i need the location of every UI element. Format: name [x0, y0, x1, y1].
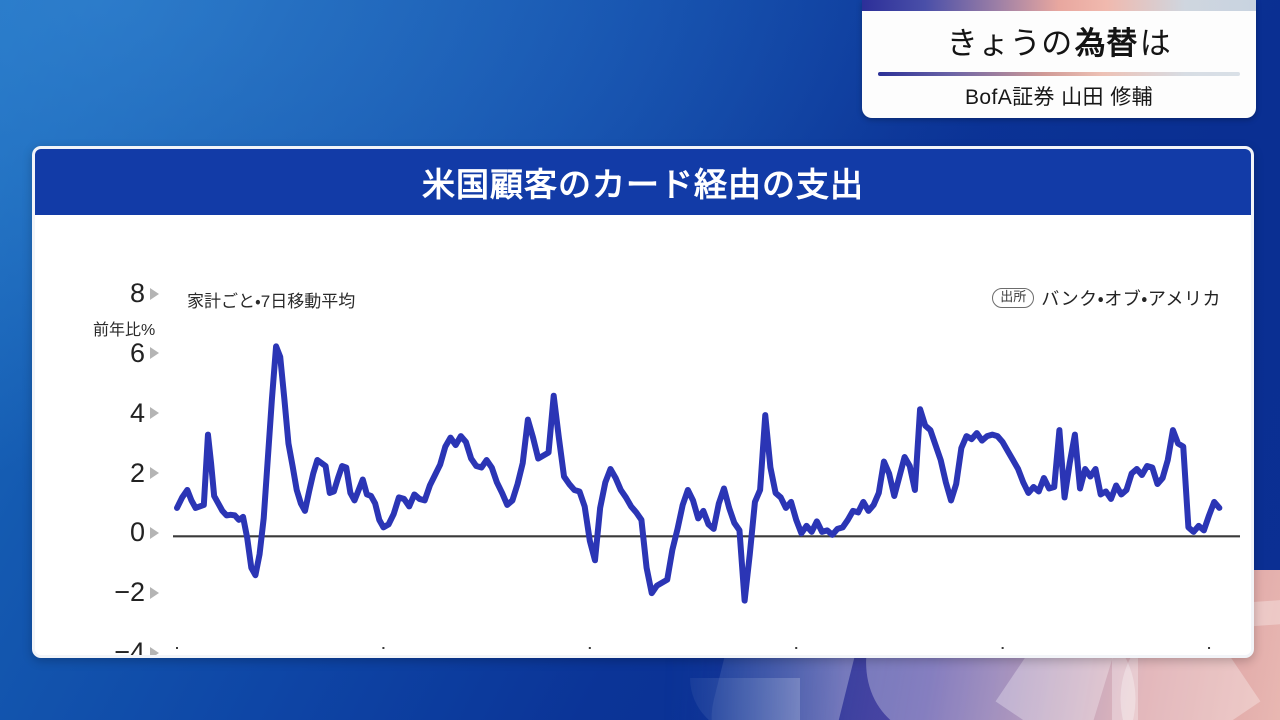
banner-headline-pre: きょうの [947, 18, 1073, 63]
plot-area: 86420−2−4 25/1357911月 [35, 215, 1251, 649]
chart-title-bar: 米国顧客のカード経由の支出 [35, 149, 1251, 215]
tick-triangle-icon [150, 407, 159, 419]
tick-triangle-icon [150, 527, 159, 539]
banner-headline-post: は [1140, 18, 1172, 63]
x-axis-tick-label: 25/1 [152, 653, 203, 658]
chart-title-text: 米国顧客のカード経由の支出 [422, 158, 864, 206]
y-axis-tick-label: 8 [97, 278, 159, 309]
data-line-series [177, 346, 1219, 600]
x-axis-tick-label: 9 [995, 653, 1009, 658]
banner-subtitle: BofA証券 山田 修輔 [862, 80, 1256, 112]
x-axis-tick-label: 3 [376, 653, 390, 658]
chart-card: 米国顧客のカード経由の支出 家計ごと・7日移動平均 前年比% 出所 バンク・オブ… [32, 146, 1254, 658]
y-axis-tick-label: 6 [97, 338, 159, 369]
x-axis-tick-label: 5 [583, 653, 597, 658]
y-axis-tick-label: 4 [97, 398, 159, 429]
y-axis-tick-label: 0 [97, 517, 159, 548]
tick-triangle-icon [150, 587, 159, 599]
x-axis-tick-label: 7 [789, 653, 803, 658]
banner-divider [878, 72, 1240, 76]
y-axis-tick-label: −2 [97, 577, 159, 608]
banner-headline: きょうの為替は [862, 14, 1256, 66]
tick-triangle-icon [150, 467, 159, 479]
y-axis-tick-label: 2 [97, 458, 159, 489]
y-axis-tick-label: −4 [97, 637, 159, 658]
chart-body: 家計ごと・7日移動平均 前年比% 出所 バンク・オブ・アメリカ 86420−2−… [35, 215, 1251, 649]
tick-triangle-icon [150, 347, 159, 359]
x-axis-tick-label: 11月 [1183, 653, 1236, 658]
tick-triangle-icon [150, 288, 159, 300]
banner-accent-strip [862, 0, 1256, 11]
line-chart-svg [35, 215, 1251, 649]
banner-headline-strong: 為替 [1075, 18, 1138, 63]
program-banner: きょうの為替は BofA証券 山田 修輔 [862, 0, 1256, 118]
